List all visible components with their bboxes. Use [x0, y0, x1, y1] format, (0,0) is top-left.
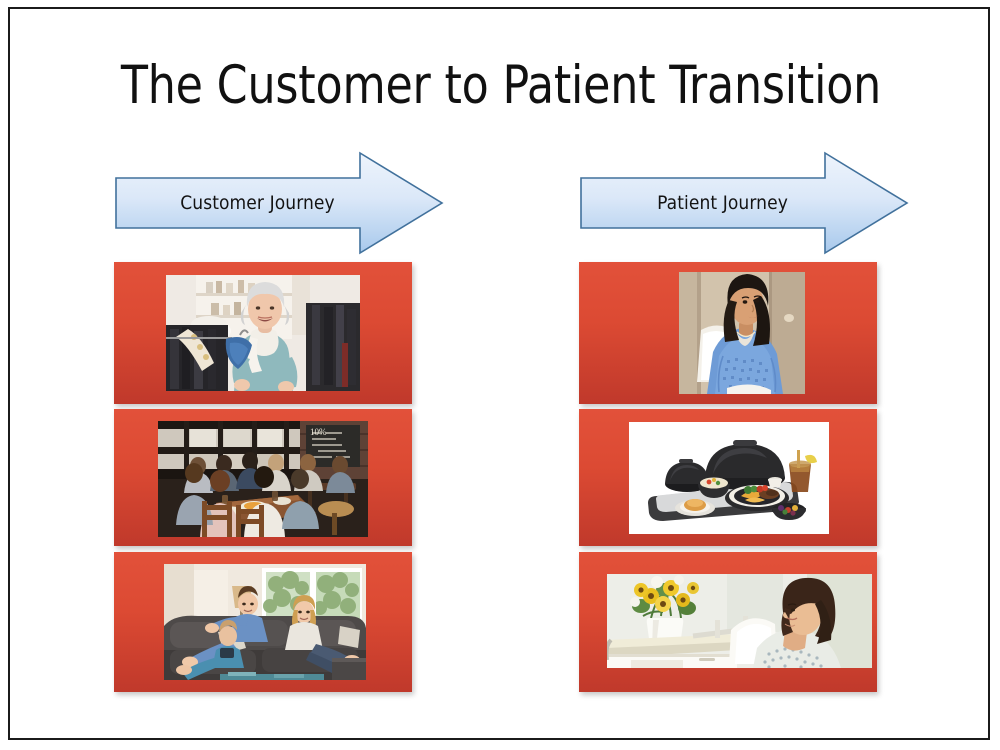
slide-canvas: The Customer to Patient Transition Custo…	[8, 7, 990, 740]
card-home-living-room[interactable]	[114, 552, 412, 692]
patient-in-hospital-bed-photo	[607, 574, 872, 668]
patient-in-hospital-gown-photo	[679, 272, 805, 394]
right-arrow-icon	[114, 150, 444, 256]
hospital-food-tray-photo	[629, 422, 829, 534]
card-retail-shopping[interactable]	[114, 262, 412, 404]
arrow-customer-journey[interactable]: Customer Journey	[114, 150, 444, 256]
card-restaurant-dining[interactable]: 10%	[114, 409, 412, 546]
family-relaxing-on-sofa-photo	[164, 564, 366, 680]
card-patient-in-bed[interactable]	[579, 552, 877, 692]
group-dining-in-restaurant-photo: 10%	[158, 421, 368, 537]
arrow-patient-journey[interactable]: Patient Journey	[579, 150, 909, 256]
shopper-in-clothing-store-photo	[166, 275, 360, 391]
svg-text:10%: 10%	[310, 427, 327, 437]
page-title: The Customer to Patient Transition	[44, 55, 957, 116]
card-patient-in-gown[interactable]	[579, 262, 877, 404]
card-hospital-meal-tray[interactable]	[579, 409, 877, 546]
right-arrow-icon	[579, 150, 909, 256]
